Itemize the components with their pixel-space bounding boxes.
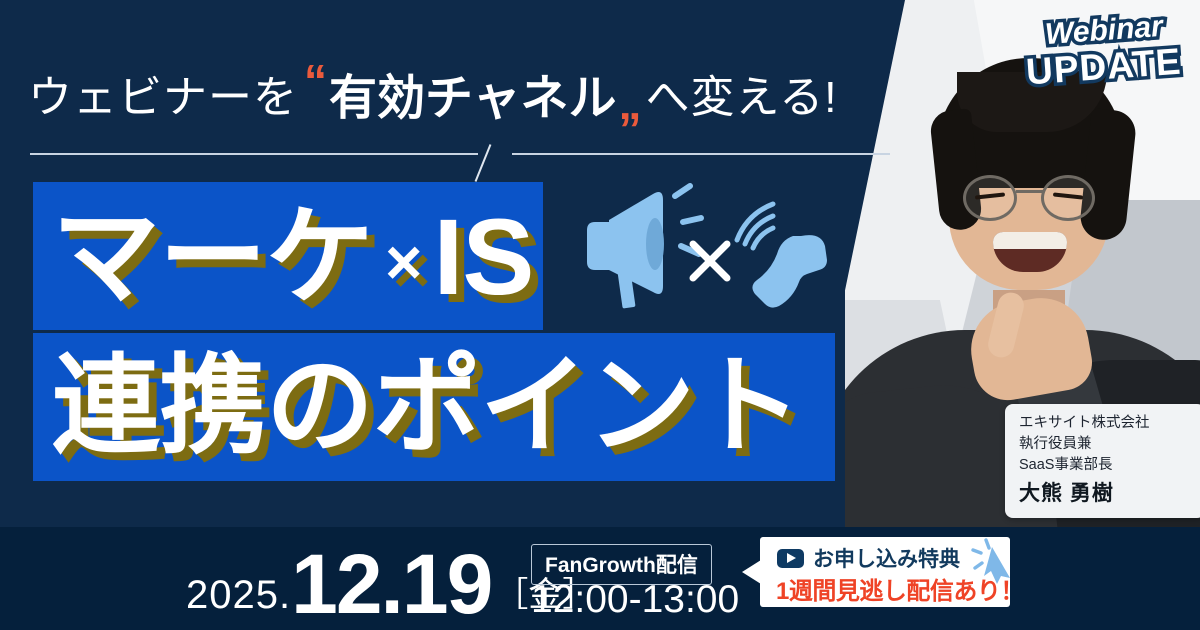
headline-tail: へ変える! [646,61,838,125]
speaker-title-2: SaaS事業部長 [1019,455,1200,476]
cursor-pointer-icon [970,538,1014,584]
cross-separator-icon [693,244,727,278]
ringing-phone-icon [752,235,827,307]
sticker-line-update: UPDATE [1025,42,1183,90]
speaker-company: エキサイト株式会社 [1019,413,1200,434]
event-time: 12:00-13:00 [531,578,739,622]
headline: ウェビナーを “ 有効チャネル „ へ変える! [28,58,908,128]
webinar-update-sticker: Webinar UPDATE [1008,4,1200,96]
offer-badge[interactable]: お申し込み特典 1週間見逃し配信あり！ [760,537,1010,607]
title-marke: マーケ [52,196,373,317]
divider [30,147,890,171]
offer-badge-tail [742,560,761,584]
divider-line-right [512,153,890,155]
webinar-banner: ウェビナーを “ 有効チャネル „ へ変える! マーケ×IS 連携のポイント [0,0,1200,630]
title-cross: × [385,226,421,298]
megaphone-icon [587,192,664,309]
offer-headline: お申し込み特典 [813,543,960,573]
speaker-title-1: 執行役員兼 [1019,434,1200,455]
quote-open-mark: “ [304,54,327,108]
title-is: IS [433,196,533,317]
quote-close-mark: „ [619,76,642,130]
title-line-1: マーケ×IS [52,193,533,336]
divider-slash [475,144,492,182]
title-line-2: 連携のポイント [52,342,801,470]
divider-line-left [30,153,478,155]
play-button-icon [777,549,804,568]
offer-headline-row: お申し込み特典 [777,543,960,573]
speaker-info-card: エキサイト株式会社 執行役員兼 SaaS事業部長 大熊 勇樹 [1005,404,1200,518]
headline-emphasis: 有効チャネル [329,58,617,128]
phone-waves-icon [737,204,773,248]
speaker-name: 大熊 勇樹 [1019,477,1200,507]
icon-row [575,182,845,317]
date-year: 2025. [186,573,291,618]
date-day: 12.19 [291,548,491,620]
headline-lead: ウェビナーを [28,61,298,125]
